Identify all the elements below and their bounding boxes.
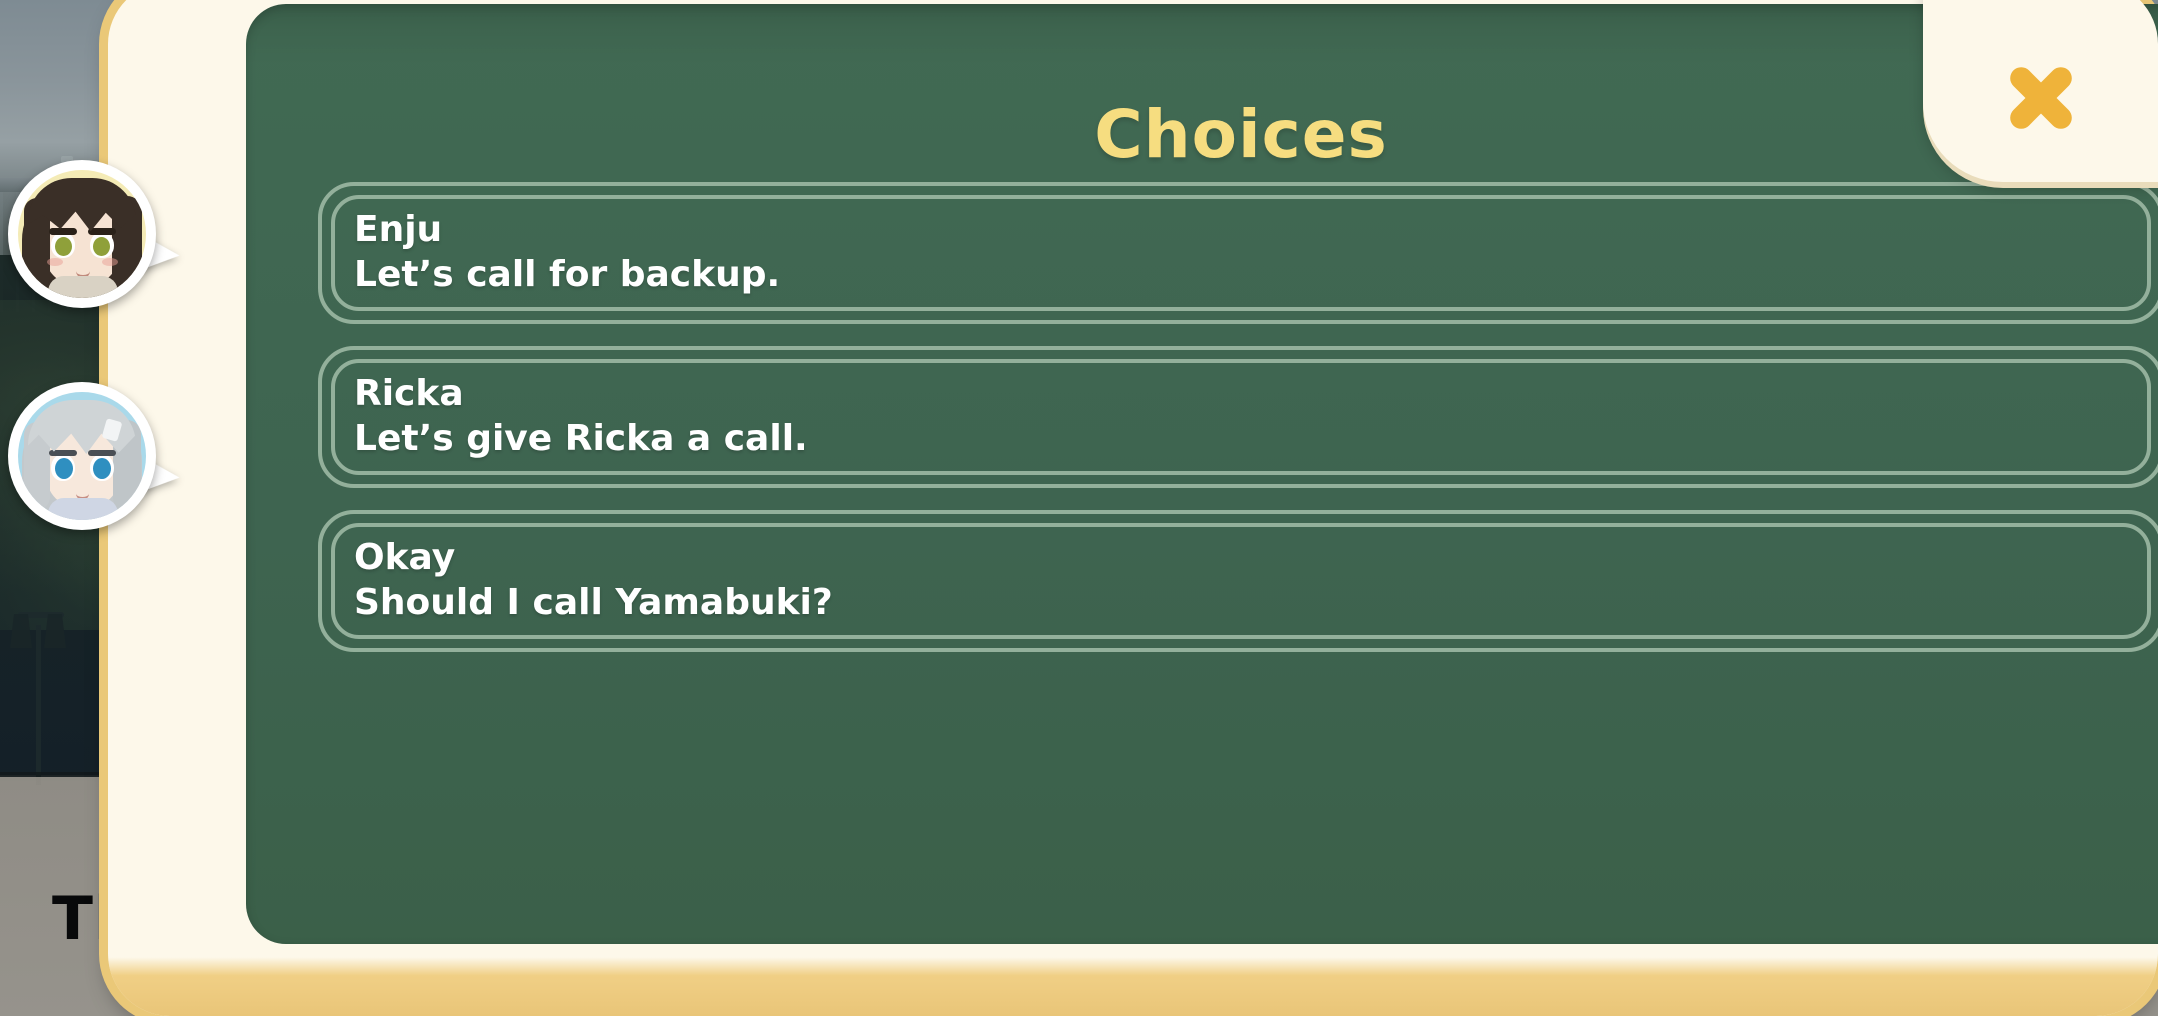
iris-left bbox=[55, 237, 72, 256]
ricka-avatar[interactable] bbox=[8, 382, 156, 530]
choice-line: Should I call Yamabuki? bbox=[354, 580, 833, 626]
choice-option-0[interactable]: Enju Let’s call for backup. bbox=[318, 182, 2158, 324]
close-button[interactable] bbox=[1923, 0, 2158, 182]
choice-line: Let’s call for backup. bbox=[354, 252, 780, 298]
page-title: Choices bbox=[246, 102, 2158, 168]
iris-right bbox=[93, 237, 110, 256]
enju-avatar[interactable] bbox=[8, 160, 156, 308]
choice-line: Let’s give Ricka a call. bbox=[354, 416, 808, 462]
park-lamp-pole bbox=[36, 625, 41, 785]
choice-speaker: Okay bbox=[354, 536, 833, 580]
eyelash-right bbox=[88, 450, 116, 456]
eyelash-left bbox=[49, 450, 77, 456]
blush-left bbox=[47, 258, 63, 266]
close-icon bbox=[2002, 59, 2080, 137]
choice-option-2[interactable]: Okay Should I call Yamabuki? bbox=[318, 510, 2158, 652]
choice-list: Enju Let’s call for backup. Ricka Let’s … bbox=[318, 182, 2158, 674]
choice-text-group: Ricka Let’s give Ricka a call. bbox=[354, 372, 808, 462]
choice-option-1[interactable]: Ricka Let’s give Ricka a call. bbox=[318, 346, 2158, 488]
iris-left bbox=[55, 458, 73, 479]
choice-speaker: Ricka bbox=[354, 372, 808, 416]
game-screen: Th Choices Enju Let’s call for backup. R… bbox=[0, 0, 2158, 1016]
choice-speaker: Enju bbox=[354, 208, 780, 252]
choices-panel-frame: Choices Enju Let’s call for backup. Rick… bbox=[108, 0, 2158, 1016]
avatar-body bbox=[48, 498, 118, 520]
avatar-body bbox=[48, 276, 118, 298]
iris-right bbox=[93, 458, 111, 479]
avatar-portrait bbox=[18, 392, 146, 520]
avatar-portrait bbox=[18, 170, 146, 298]
blush-right bbox=[102, 258, 118, 266]
choice-text-group: Enju Let’s call for backup. bbox=[354, 208, 780, 298]
eyelash-left bbox=[49, 228, 77, 235]
choices-panel-body: Choices Enju Let’s call for backup. Rick… bbox=[246, 4, 2158, 944]
choice-text-group: Okay Should I call Yamabuki? bbox=[354, 536, 833, 626]
